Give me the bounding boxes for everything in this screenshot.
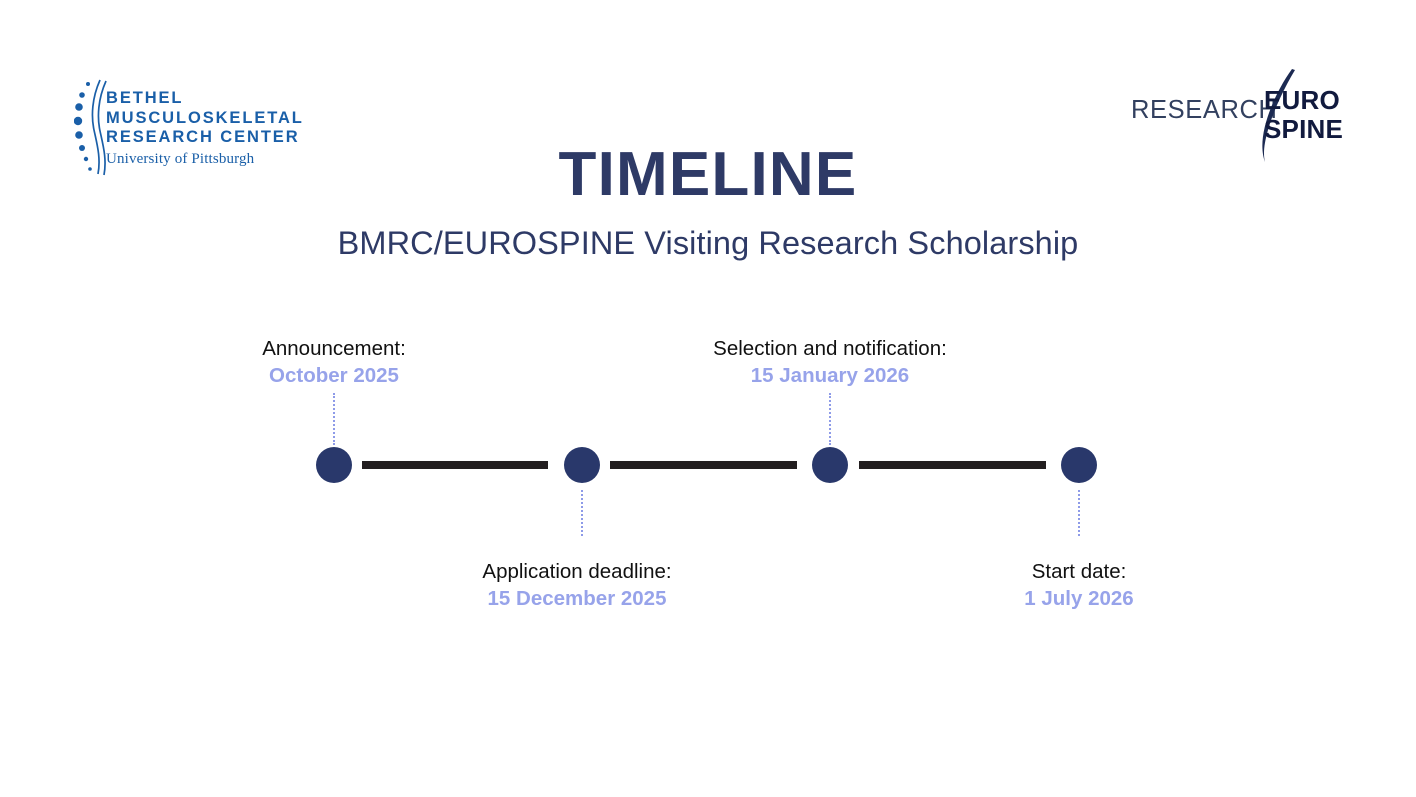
timeline-connector-2 xyxy=(610,461,797,469)
timeline-caption-1: Announcement: xyxy=(154,336,514,362)
timeline-connector-1 xyxy=(362,461,548,469)
timeline-date-4: 1 July 2026 xyxy=(899,586,1259,612)
timeline-dot-4[interactable] xyxy=(1061,447,1097,483)
timeline-caption-2: Application deadline: xyxy=(397,559,757,585)
timeline-dot-1[interactable] xyxy=(316,447,352,483)
timeline-connector-3 xyxy=(859,461,1046,469)
timeline-label-3: Selection and notification: 15 January 2… xyxy=(650,336,1010,389)
timeline-caption-3: Selection and notification: xyxy=(650,336,1010,362)
timeline-date-2: 15 December 2025 xyxy=(397,586,757,612)
timeline-label-1: Announcement: October 2025 xyxy=(154,336,514,389)
timeline-date-3: 15 January 2026 xyxy=(650,363,1010,389)
timeline-leader-1 xyxy=(333,393,335,445)
timeline-date-1: October 2025 xyxy=(154,363,514,389)
timeline-leader-3 xyxy=(829,393,831,445)
timeline-dot-2[interactable] xyxy=(564,447,600,483)
timeline-leader-4 xyxy=(1078,490,1080,536)
timeline-graphic: Announcement: October 2025 Selection and… xyxy=(0,0,1416,797)
timeline-slide: BETHEL MUSCULOSKELETAL RESEARCH CENTER U… xyxy=(0,0,1416,797)
timeline-label-4: Start date: 1 July 2026 xyxy=(899,559,1259,612)
timeline-label-2: Application deadline: 15 December 2025 xyxy=(397,559,757,612)
timeline-dot-3[interactable] xyxy=(812,447,848,483)
timeline-caption-4: Start date: xyxy=(899,559,1259,585)
timeline-leader-2 xyxy=(581,490,583,536)
